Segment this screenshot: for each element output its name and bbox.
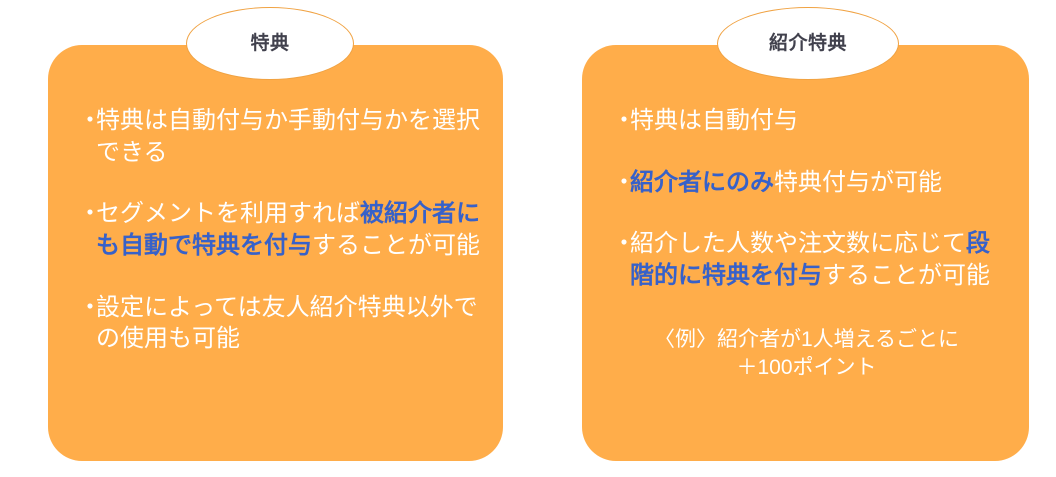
list-item: ・ 紹介者にのみ特典付与が可能	[612, 167, 1011, 199]
bullet-marker-icon: ・	[78, 105, 96, 137]
bullet-marker-icon: ・	[78, 198, 96, 230]
bullet-segment-plain: 特典は自動付与	[630, 107, 798, 134]
bullet-segment-plain: セグメントを利用すれば	[96, 200, 360, 227]
bullet-marker-icon: ・	[612, 167, 630, 199]
example-note-line-1: 〈例〉紹介者が1人増えるごとに	[612, 326, 1001, 355]
benefit-title-badge: 特典	[186, 7, 354, 80]
list-item: ・ 設定によっては友人紹介特典以外での使用も可能	[78, 292, 485, 355]
bullet-text: 特典は自動付与か手動付与かを選択できる	[96, 105, 485, 168]
bullet-marker-icon: ・	[78, 292, 96, 324]
bullet-segment-plain: 特典付与が可能	[774, 169, 942, 196]
bullet-text: 設定によっては友人紹介特典以外での使用も可能	[96, 292, 485, 355]
referral-benefit-title-badge: 紹介特典	[717, 7, 899, 80]
list-item: ・ 紹介した人数や注文数に応じて段階的に特典を付与することが可能	[612, 228, 1011, 291]
bullet-text: 特典は自動付与	[630, 105, 1011, 137]
referral-benefit-card: ・ 特典は自動付与 ・ 紹介者にのみ特典付与が可能 ・ 紹介した人数や注文数に応…	[582, 45, 1029, 461]
comparison-diagram: ・ 特典は自動付与か手動付与かを選択できる ・ セグメントを利用すれば被紹介者に…	[0, 0, 1056, 477]
bullet-marker-icon: ・	[612, 228, 630, 260]
page-title: 紹介特典	[769, 34, 847, 53]
example-note-line-2: ＋100ポイント	[612, 354, 1001, 383]
list-item: ・ セグメントを利用すれば被紹介者にも自動で特典を付与することが可能	[78, 198, 485, 261]
referral-benefit-card-body: ・ 特典は自動付与 ・ 紹介者にのみ特典付与が可能 ・ 紹介した人数や注文数に応…	[582, 105, 1029, 383]
bullet-text: セグメントを利用すれば被紹介者にも自動で特典を付与することが可能	[96, 198, 485, 261]
bullet-text: 紹介者にのみ特典付与が可能	[630, 167, 1011, 199]
example-note: 〈例〉紹介者が1人増えるごとに ＋100ポイント	[612, 326, 1011, 383]
benefit-card-body: ・ 特典は自動付与か手動付与かを選択できる ・ セグメントを利用すれば被紹介者に…	[48, 105, 503, 355]
bullet-segment-plain: 特典は自動付与か手動付与かを選択できる	[96, 107, 480, 166]
bullet-segment-plain: 設定によっては友人紹介特典以外での使用も可能	[96, 294, 478, 353]
benefit-card: ・ 特典は自動付与か手動付与かを選択できる ・ セグメントを利用すれば被紹介者に…	[48, 45, 503, 461]
bullet-text: 紹介した人数や注文数に応じて段階的に特典を付与することが可能	[630, 228, 1011, 291]
bullet-segment-highlight: 紹介者にのみ	[630, 169, 774, 196]
list-item: ・ 特典は自動付与	[612, 105, 1011, 137]
bullet-marker-icon: ・	[612, 105, 630, 137]
page-title: 特典	[250, 34, 289, 53]
bullet-segment-plain: することが可能	[312, 232, 480, 259]
list-item: ・ 特典は自動付与か手動付与かを選択できる	[78, 105, 485, 168]
bullet-segment-plain: することが可能	[822, 262, 990, 289]
bullet-segment-plain: 紹介した人数や注文数に応じて	[630, 230, 966, 257]
